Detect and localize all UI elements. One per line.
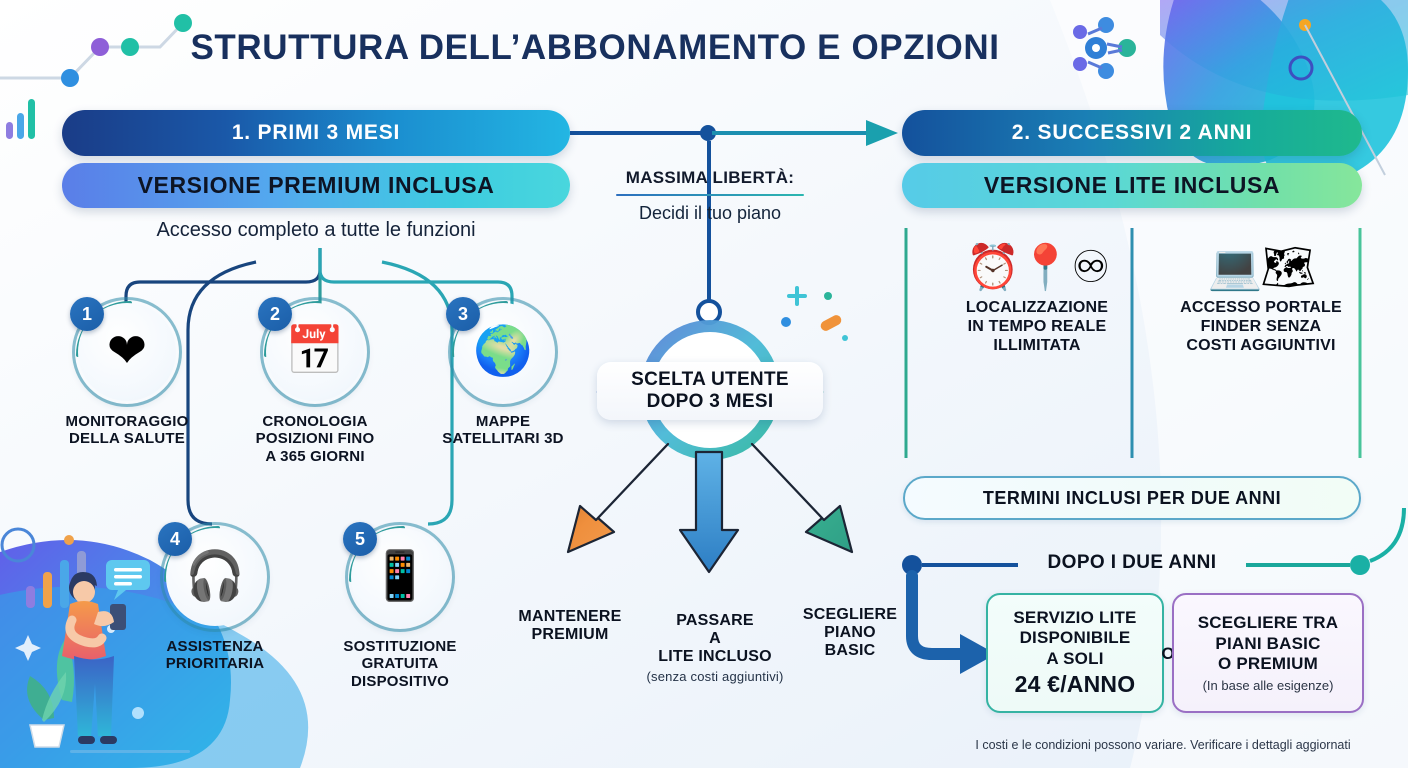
feature-label: SOSTITUZIONE GRATUITA DISPOSITIVO: [325, 638, 475, 690]
option-note: (senza costi aggiuntivi): [640, 670, 790, 685]
price-box-line-3: O PREMIUM: [1218, 654, 1318, 674]
feature-label: ASSISTENZA PRIORITARIA: [140, 638, 290, 673]
infographic-canvas: STRUTTURA DELL’ABBONAMENTO E OPZIONI 1. …: [0, 0, 1408, 768]
option-line-2: A: [709, 630, 721, 647]
feature-card-device-replacement[interactable]: 📱 5 SOSTITUZIONE GRATUITA DISPOSITIVO: [325, 525, 475, 690]
option-label-mantenere-premium[interactable]: MANTENERE PREMIUM: [495, 608, 645, 644]
freedom-callout: MASSIMA LIBERTÀ: Decidi il tuo piano: [600, 168, 820, 224]
feature-label: CRONOLOGIA POSIZIONI FINO A 365 GIORNI: [240, 413, 390, 465]
option-line-1: SCEGLIERE: [803, 606, 897, 623]
feature-card-health[interactable]: ❤ 1 MONITORAGGIO DELLA SALUTE: [52, 300, 202, 448]
price-value: 24 €/ANNO: [1015, 671, 1136, 698]
phase-1-header-pill[interactable]: 1. PRIMI 3 MESI: [62, 110, 570, 156]
laptop-map-portal-icon: 💻🗺: [1146, 245, 1376, 291]
device-swap-icon: 📱: [370, 553, 430, 601]
feature-card-priority-support[interactable]: 🎧 4 ASSISTENZA PRIORITARIA: [140, 525, 290, 673]
freedom-heading: MASSIMA LIBERTÀ:: [600, 168, 820, 188]
option-line-2: PREMIUM: [532, 626, 609, 643]
realtime-location-icon: ⏰📍♾: [922, 245, 1152, 291]
feature-number-badge: 5: [343, 522, 377, 556]
right-feature-label: ACCESSO PORTALE FINDER SENZA COSTI AGGIU…: [1146, 299, 1376, 356]
support-agent-icon: 🎧: [185, 553, 245, 601]
right-feature-label: LOCALIZZAZIONE IN TEMPO REALE ILLIMITATA: [922, 299, 1152, 356]
phase-1-caption: Accesso completo a tutte le funzioni: [62, 219, 570, 242]
feature-number-badge: 1: [70, 297, 104, 331]
globe-satellite-icon: 🌍: [473, 328, 533, 376]
feature-ring: 🌍 3: [451, 300, 555, 404]
feature-ring: 📅 2: [263, 300, 367, 404]
option-line-3: LITE INCLUSO: [658, 648, 772, 665]
price-box-line-2: DISPONIBILE: [1020, 628, 1131, 648]
calendar-location-icon: 📅: [285, 328, 345, 376]
feature-ring: ❤ 1: [75, 300, 179, 404]
page-title: STRUTTURA DELL’ABBONAMENTO E OPZIONI: [0, 28, 1190, 68]
feature-number-badge: 3: [446, 297, 480, 331]
option-label-piano-basic[interactable]: SCEGLIERE PIANO BASIC: [786, 606, 914, 661]
phase-2-header-pill[interactable]: 2. SUCCESSIVI 2 ANNI: [902, 110, 1362, 156]
price-box-note: (In base alle esigenze): [1203, 678, 1334, 693]
freedom-subtitle: Decidi il tuo piano: [600, 203, 820, 224]
terms-included-box[interactable]: TERMINI INCLUSI PER DUE ANNI: [903, 476, 1361, 520]
hub-line-2: DOPO 3 MESI: [647, 391, 774, 413]
option-line-1: PASSARE: [676, 612, 754, 629]
price-box-line-1: SERVIZIO LITE: [1013, 608, 1136, 628]
feature-label: MAPPE SATELLITARI 3D: [428, 413, 578, 448]
right-feature-finder-portal[interactable]: 💻🗺 ACCESSO PORTALE FINDER SENZA COSTI AG…: [1146, 245, 1376, 356]
freedom-divider: [616, 194, 804, 196]
feature-label: MONITORAGGIO DELLA SALUTE: [52, 413, 202, 448]
right-feature-realtime-location[interactable]: ⏰📍♾ LOCALIZZAZIONE IN TEMPO REALE ILLIMI…: [922, 245, 1152, 356]
hub-line-1: SCELTA UTENTE: [631, 369, 789, 391]
option-line-1: MANTENERE: [518, 608, 621, 625]
feature-ring: 📱 5: [348, 525, 452, 629]
price-box-line-2: PIANI BASIC: [1215, 634, 1320, 654]
option-line-3: BASIC: [825, 642, 876, 659]
price-box-servizio-lite[interactable]: SERVIZIO LITE DISPONIBILE A SOLI 24 €/AN…: [986, 593, 1164, 713]
price-box-line-1: SCEGLIERE TRA: [1198, 613, 1339, 633]
disclaimer-text: I costi e le condizioni possono variare.…: [948, 738, 1378, 752]
feature-number-badge: 4: [158, 522, 192, 556]
heart-rate-monitor-icon: ❤: [107, 328, 147, 376]
after-two-years-label: DOPO I DUE ANNI: [1020, 552, 1244, 574]
phase-2-subtitle-pill[interactable]: VERSIONE LITE INCLUSA: [902, 163, 1362, 208]
feature-card-location-history[interactable]: 📅 2 CRONOLOGIA POSIZIONI FINO A 365 GIOR…: [240, 300, 390, 465]
price-box-basic-or-premium[interactable]: SCEGLIERE TRA PIANI BASIC O PREMIUM (In …: [1172, 593, 1364, 713]
price-box-line-3: A SOLI: [1046, 649, 1103, 669]
option-label-passare-lite[interactable]: PASSARE A LITE INCLUSO (senza costi aggi…: [640, 612, 790, 685]
feature-ring: 🎧 4: [163, 525, 267, 629]
user-choice-hub-label[interactable]: SCELTA UTENTE DOPO 3 MESI: [597, 362, 823, 420]
phase-1-subtitle-pill[interactable]: VERSIONE PREMIUM INCLUSA: [62, 163, 570, 208]
option-line-2: PIANO: [824, 624, 876, 641]
feature-card-satellite-maps[interactable]: 🌍 3 MAPPE SATELLITARI 3D: [428, 300, 578, 448]
feature-number-badge: 2: [258, 297, 292, 331]
